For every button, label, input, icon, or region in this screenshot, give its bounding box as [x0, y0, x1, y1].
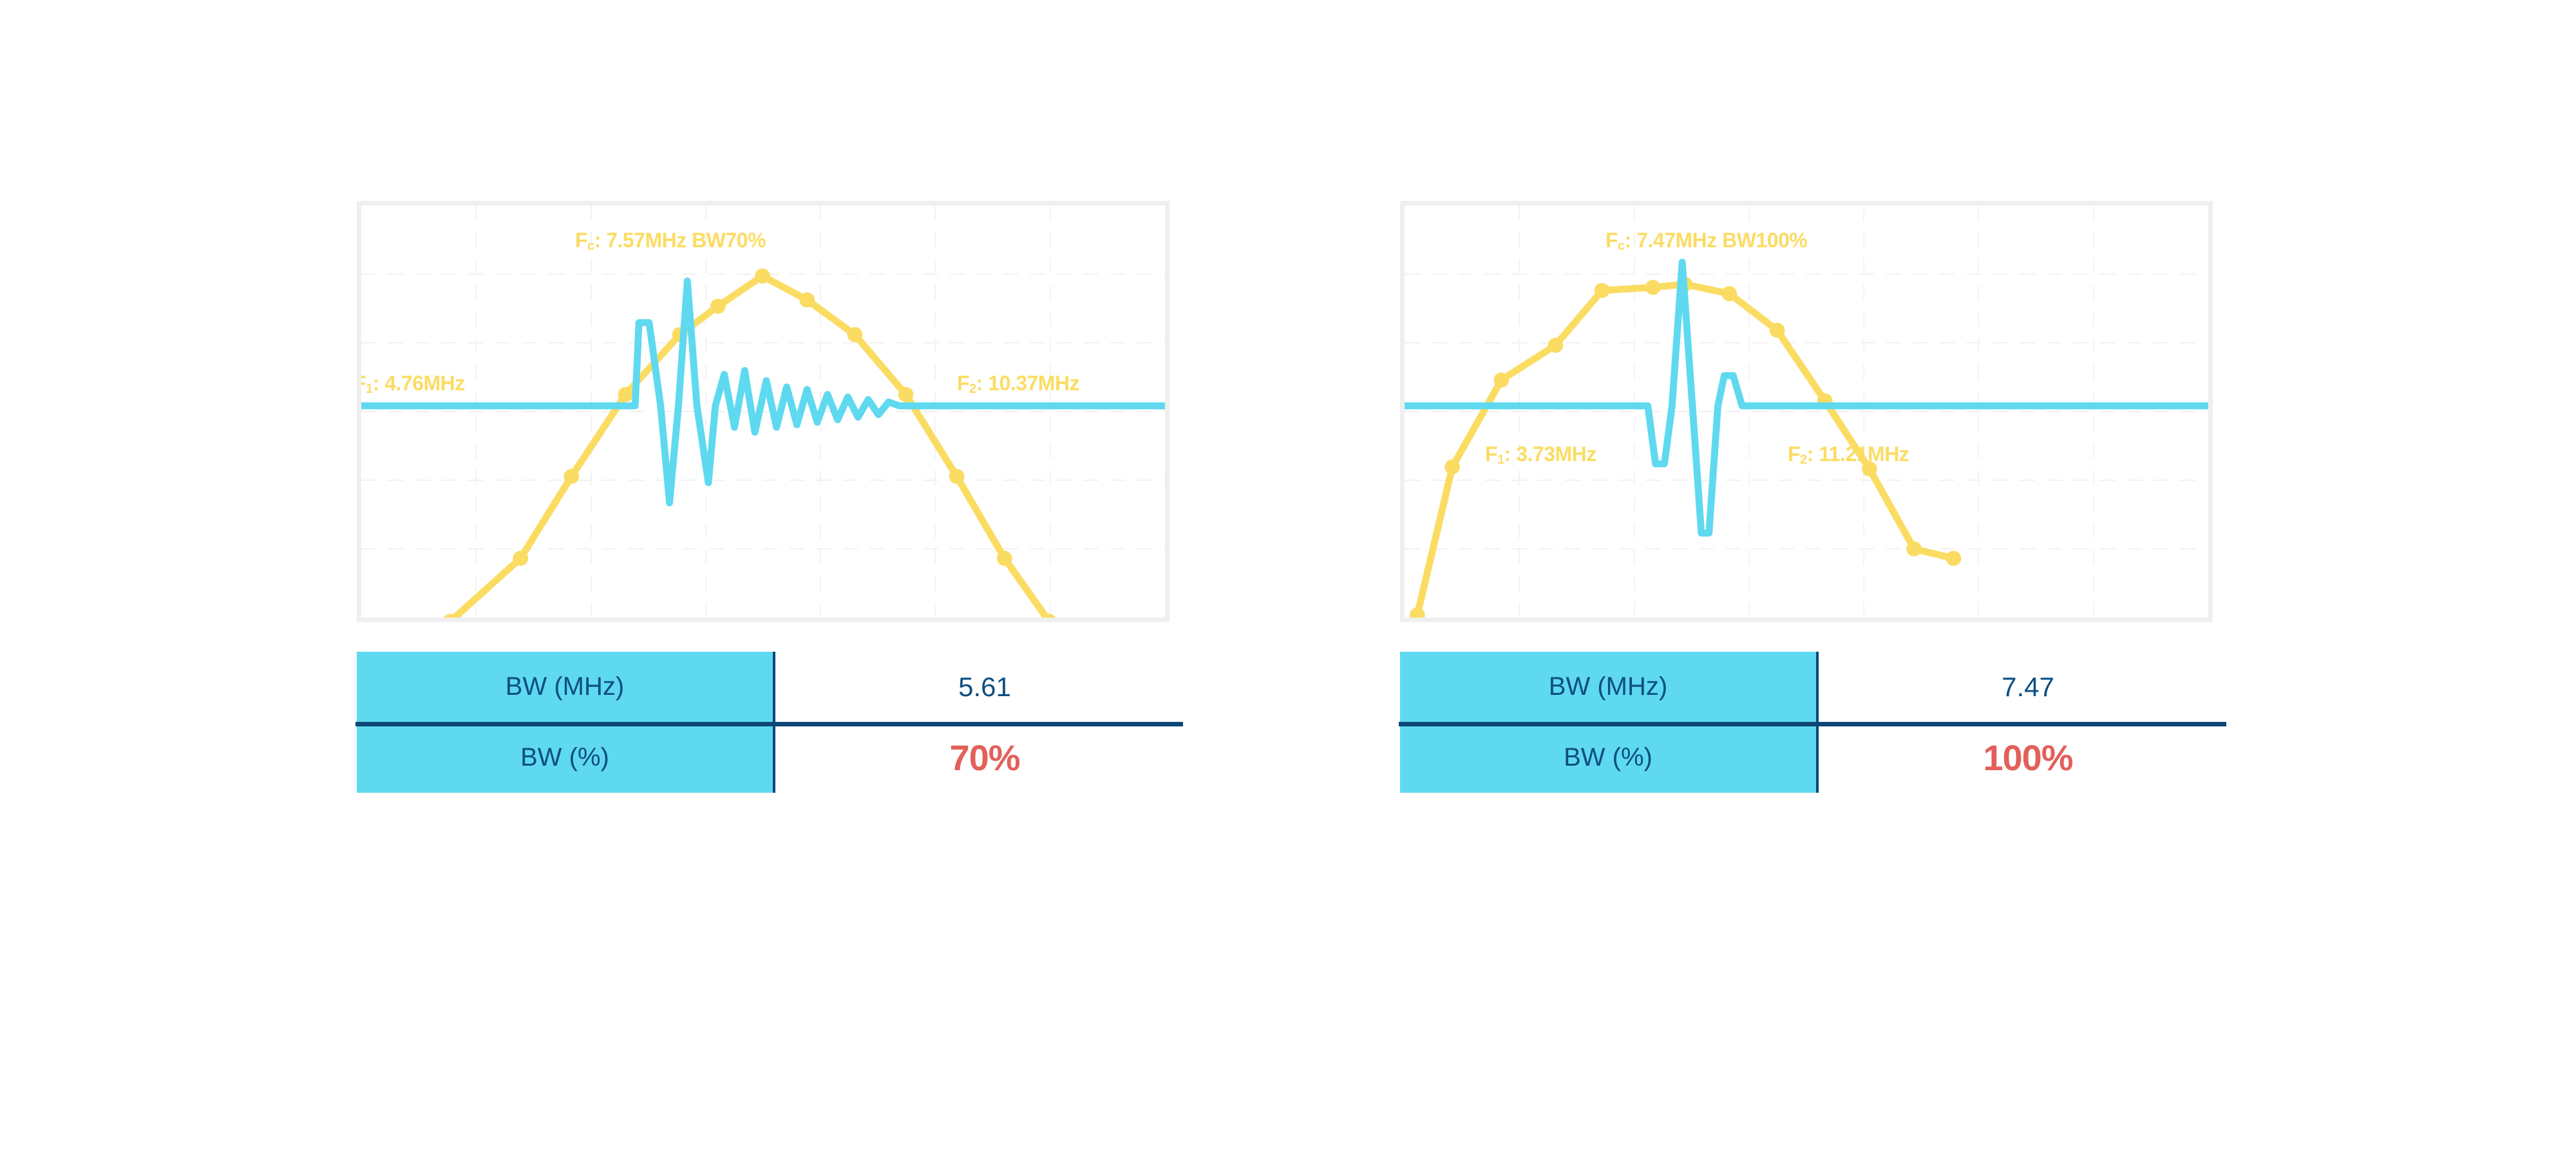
measurement-panel-left: Fc: 7.57MHz BW70% F1: 4.76MHz F2: 10.37M…	[348, 0, 1198, 1154]
annotation-prefix: F	[357, 372, 366, 395]
annotation-subscript: 1	[1497, 453, 1504, 467]
annotation-subscript: 2	[1800, 453, 1807, 467]
annotation-upper-cutoff: F2: 11.21MHz	[1788, 444, 1909, 466]
row-value-cell: 70%	[775, 722, 1194, 793]
row-value-cell: 100%	[1819, 722, 2237, 793]
annotation-text: : 4.76MHz	[373, 372, 465, 395]
annotation-subscript: c	[1618, 239, 1625, 253]
annotation-center-frequency: Fc: 7.47MHz BW100%	[1605, 230, 1807, 252]
annotation-lower-cutoff: F1: 3.73MHz	[1485, 444, 1596, 466]
row-label-bandwidth-mhz: BW (MHz)	[1400, 652, 1819, 722]
spectrum-chart-right[interactable]: Fc: 7.47MHz BW100% F1: 3.73MHz F2: 11.21…	[1400, 201, 2213, 622]
series-markers	[443, 269, 1057, 618]
bandwidth-mhz-value: 7.47	[2002, 672, 2054, 703]
table-middle-rule	[1399, 722, 2226, 726]
bandwidth-table-right: BW (MHz) 7.47 BW (%) 100%	[1400, 652, 2237, 793]
annotation-text: : 7.47MHz BW100%	[1625, 229, 1808, 252]
series-rf-waveform	[1405, 262, 2208, 533]
chart-plot-area	[1405, 205, 2208, 618]
row-label-bandwidth-percent: BW (%)	[1400, 722, 1819, 793]
annotation-subscript: c	[587, 239, 594, 253]
annotation-prefix: F	[1788, 442, 1800, 466]
annotation-text: : 10.37MHz	[976, 372, 1079, 395]
bandwidth-percent-value: 70%	[949, 737, 1019, 779]
bandwidth-table-left: BW (MHz) 5.61 BW (%) 70%	[357, 652, 1194, 793]
row-value-cell: 7.47	[1819, 652, 2237, 722]
spectrum-chart-left[interactable]: Fc: 7.57MHz BW70% F1: 4.76MHz F2: 10.37M…	[357, 201, 1170, 622]
row-value-cell: 5.61	[775, 652, 1194, 722]
annotation-prefix: F	[957, 372, 969, 395]
annotation-lower-cutoff: F1: 4.76MHz	[357, 373, 465, 395]
chart-svg-right	[1405, 205, 2208, 618]
annotation-subscript: 2	[969, 382, 976, 396]
grid-lines	[361, 205, 1165, 618]
table-row: BW (%) 70%	[357, 722, 1194, 793]
annotation-center-frequency: Fc: 7.57MHz BW70%	[575, 230, 766, 252]
row-label-bandwidth-percent: BW (%)	[357, 722, 775, 793]
measurement-panel-right: Fc: 7.47MHz BW100% F1: 3.73MHz F2: 11.21…	[1391, 0, 2241, 1154]
bandwidth-mhz-value: 5.61	[958, 672, 1011, 703]
annotation-upper-cutoff: F2: 10.37MHz	[957, 373, 1079, 395]
screenshot-canvas: Fc: 7.57MHz BW70% F1: 4.76MHz F2: 10.37M…	[0, 0, 2576, 1154]
annotation-prefix: F	[1485, 442, 1497, 466]
chart-svg-left	[361, 205, 1165, 618]
annotation-text: : 7.57MHz BW70%	[594, 229, 766, 252]
table-middle-rule	[355, 722, 1183, 726]
annotation-subscript: 1	[366, 382, 373, 396]
table-row: BW (MHz) 5.61	[357, 652, 1194, 722]
table-row: BW (MHz) 7.47	[1400, 652, 2237, 722]
annotation-text: : 3.73MHz	[1504, 442, 1596, 466]
annotation-text: : 11.21MHz	[1807, 442, 1909, 466]
bandwidth-percent-value: 100%	[1983, 737, 2072, 779]
chart-plot-area	[361, 205, 1165, 618]
row-label-bandwidth-mhz: BW (MHz)	[357, 652, 775, 722]
series-frequency-spectrum	[450, 276, 1049, 618]
grid-lines	[1405, 205, 2208, 618]
annotation-prefix: F	[575, 229, 587, 252]
table-row: BW (%) 100%	[1400, 722, 2237, 793]
annotation-prefix: F	[1605, 229, 1618, 252]
